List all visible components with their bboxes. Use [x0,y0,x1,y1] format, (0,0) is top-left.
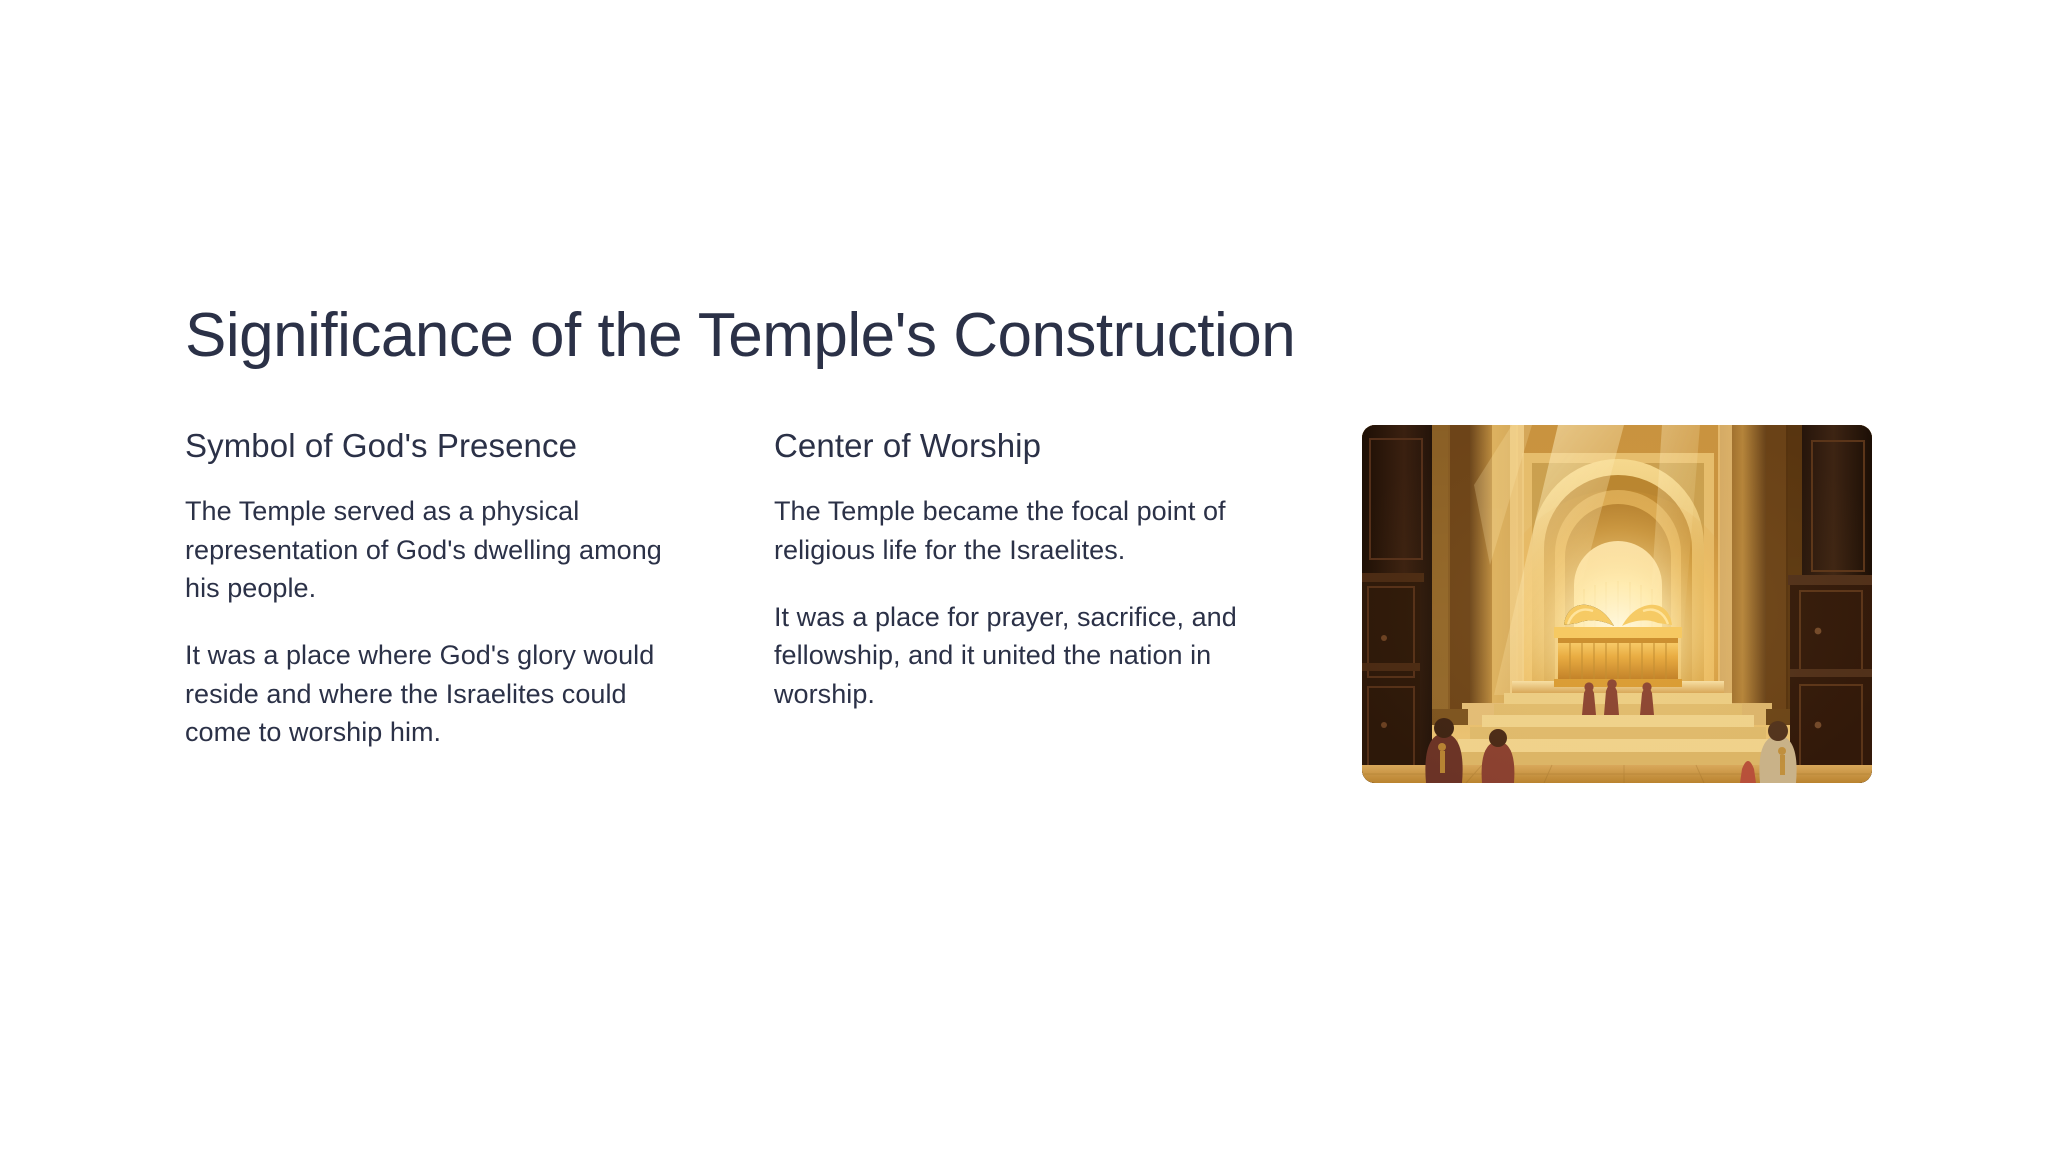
column-2-heading: Center of Worship [774,425,1271,466]
column-2-paragraph-2: It was a place for prayer, sacrifice, an… [774,598,1271,713]
page-title: Significance of the Temple's Constructio… [185,300,1295,371]
temple-interior-svg [1362,425,1872,783]
column-1-paragraph-2: It was a place where God's glory would r… [185,636,682,751]
column-center-of-worship: Center of Worship The Temple became the … [774,425,1271,713]
column-1-heading: Symbol of God's Presence [185,425,682,466]
column-1-paragraph-1: The Temple served as a physical represen… [185,492,682,607]
content-row: Symbol of God's Presence The Temple serv… [185,425,1928,783]
illustration-column [1362,425,1872,783]
temple-interior-illustration [1362,425,1872,783]
column-symbol-of-gods-presence: Symbol of God's Presence The Temple serv… [185,425,682,751]
column-2-paragraph-1: The Temple became the focal point of rel… [774,492,1271,569]
slide-root: Significance of the Temple's Constructio… [0,0,2048,1152]
